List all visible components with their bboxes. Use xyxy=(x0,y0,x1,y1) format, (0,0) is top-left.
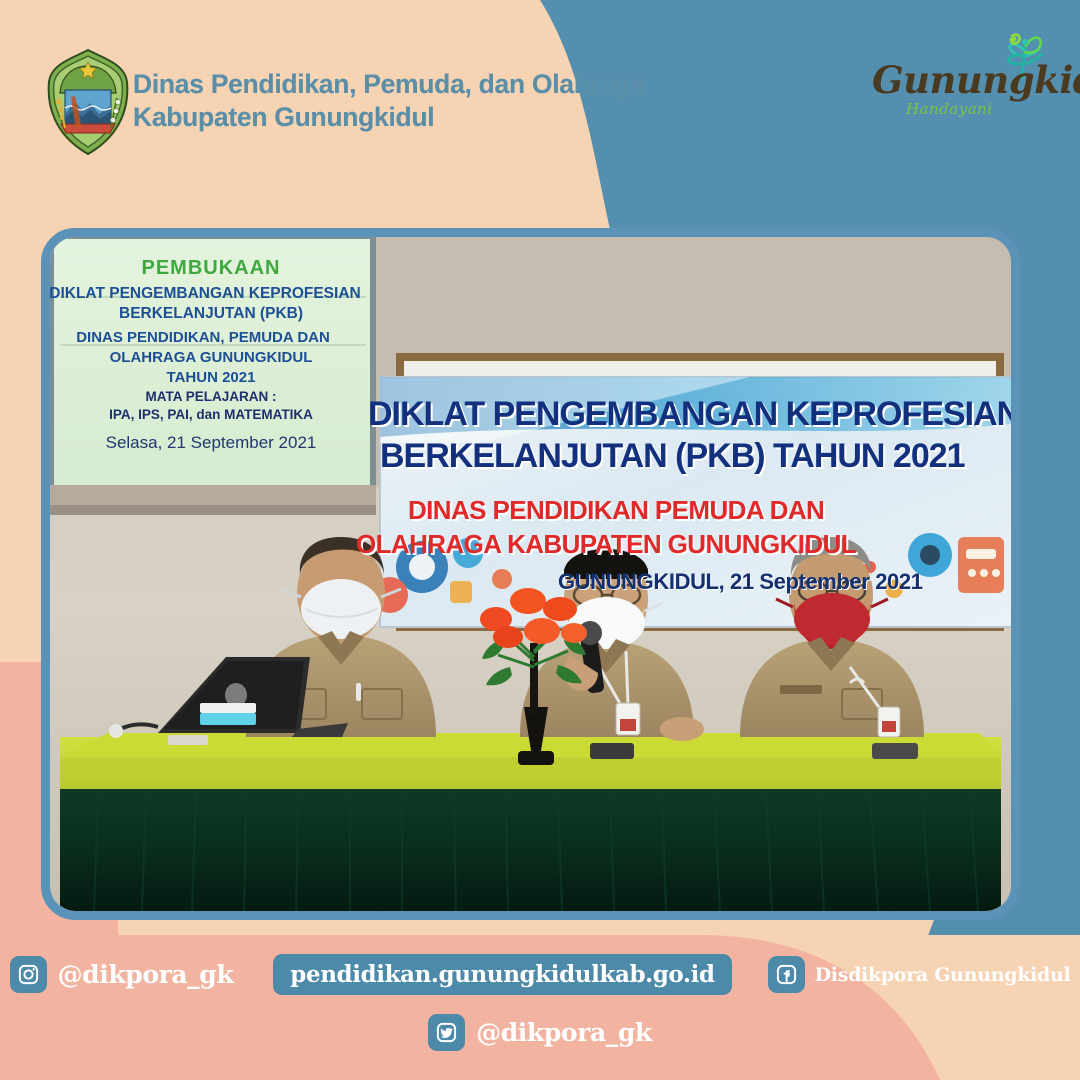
facebook-page-name[interactable]: Disdikpora Gunungkidul xyxy=(815,964,1071,986)
website-url-button[interactable]: pendidikan.gunungkidulkab.go.id xyxy=(273,954,731,995)
poster-canvas: Dinas Pendidikan, Pemuda, dan Olahraga K… xyxy=(0,0,1080,1080)
org-title-line-2: Kabupaten Gunungkidul xyxy=(133,101,693,134)
slide-line-2: BERKELANJUTAN (PKB) xyxy=(52,305,370,323)
slide-heading: PEMBUKAAN xyxy=(52,257,370,280)
poster-header: Dinas Pendidikan, Pemuda, dan Olahraga K… xyxy=(0,0,1080,200)
instagram-handle[interactable]: @dikpora_gk xyxy=(58,960,234,989)
banner-line-1: DIKLAT PENGEMBANGAN KEPROFESIAN xyxy=(368,395,1011,434)
logo-wordmark: Gunungkidul xyxy=(872,58,1080,102)
banner-line-4: OLAHRAGA KABUPATEN GUNUNGKIDUL xyxy=(356,529,856,560)
gunungkidul-handayani-logo: Gunungkidul Handayani xyxy=(858,36,1058,128)
event-photo-frame: PEMBUKAAN DIKLAT PENGEMBANGAN KEPROFESIA… xyxy=(41,228,1020,920)
gunungkidul-regency-crest-icon xyxy=(45,48,131,156)
org-title-line-1: Dinas Pendidikan, Pemuda, dan Olahraga xyxy=(133,68,693,101)
twitter-icon[interactable] xyxy=(428,1014,465,1051)
footer-row-secondary: @dikpora_gk xyxy=(0,1014,1080,1051)
footer-row-primary: @dikpora_gk pendidikan.gunungkidulkab.go… xyxy=(0,954,1080,995)
slide-line-4: OLAHRAGA GUNUNGKIDUL xyxy=(52,349,370,366)
page-title: Dinas Pendidikan, Pemuda, dan Olahraga K… xyxy=(133,68,693,134)
slide-line-3: DINAS PENDIDIKAN, PEMUDA DAN xyxy=(50,329,368,346)
banner-line-3: DINAS PENDIDIKAN PEMUDA DAN xyxy=(408,495,824,526)
slide-line-1: DIKLAT PENGEMBANGAN KEPROFESIAN xyxy=(50,285,370,303)
logo-tagline: Handayani xyxy=(906,100,993,118)
instagram-icon[interactable] xyxy=(10,956,47,993)
event-photo: PEMBUKAAN DIKLAT PENGEMBANGAN KEPROFESIA… xyxy=(50,237,1011,911)
twitter-handle[interactable]: @dikpora_gk xyxy=(476,1018,652,1047)
facebook-icon[interactable] xyxy=(768,956,805,993)
slide-line-5: TAHUN 2021 xyxy=(52,369,370,386)
slide-line-6: MATA PELAJARAN : xyxy=(52,389,370,404)
banner-line-2: BERKELANJUTAN (PKB) TAHUN 2021 xyxy=(380,437,965,476)
slide-line-7: IPA, IPS, PAI, dan MATEMATIKA xyxy=(52,407,370,422)
banner-line-5: GUNUNGKIDUL, 21 September 2021 xyxy=(558,569,923,595)
poster-footer: @dikpora_gk pendidikan.gunungkidulkab.go… xyxy=(0,940,1080,1080)
slide-date: Selasa, 21 September 2021 xyxy=(52,433,370,453)
